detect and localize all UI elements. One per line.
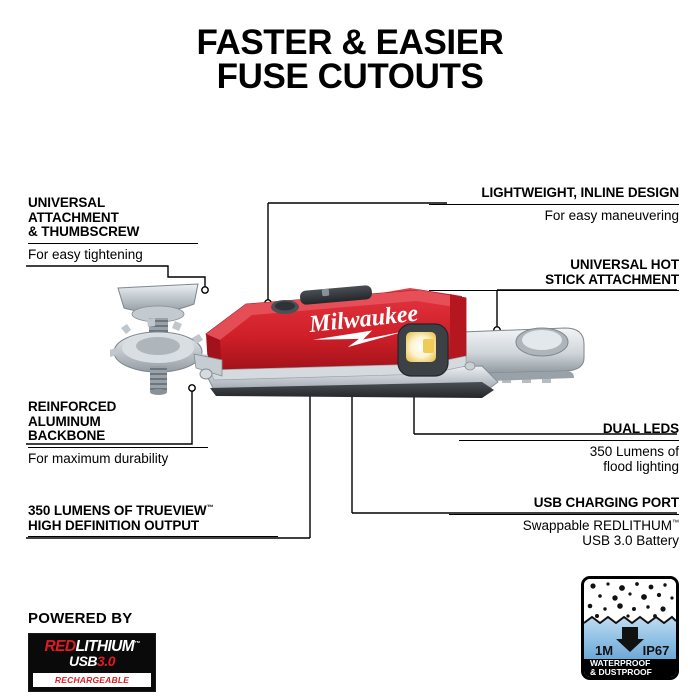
usb-version: 3.0 xyxy=(97,653,115,669)
powered-by-block: POWERED BY REDLITHIUM™ USB3.0 RECHARGEAB… xyxy=(28,610,156,692)
trademark-symbol: ™ xyxy=(672,519,679,526)
callout-divider xyxy=(449,514,679,515)
callout-reinforced-backbone: REINFORCED ALUMINUM BACKBONE For maximum… xyxy=(28,400,208,466)
redlithium-badge: REDLITHIUM™ USB3.0 RECHARGEABLE xyxy=(28,633,156,692)
side-bolt-detail xyxy=(465,362,475,370)
callout-universal-attachment: UNIVERSAL ATTACHMENT & THUMBSCREW For ea… xyxy=(28,196,198,262)
callout-title-line2: HIGH DEFINITION OUTPUT xyxy=(28,518,199,533)
callout-title: DUAL LEDS xyxy=(459,422,679,437)
callout-divider xyxy=(459,440,679,441)
trademark-symbol: ™ xyxy=(207,505,214,512)
infographic-page: FASTER & EASIER FUSE CUTOUTS xyxy=(0,0,700,700)
callout-hot-stick-attachment: UNIVERSAL HOT STICK ATTACHMENT xyxy=(429,258,679,291)
callout-divider xyxy=(28,447,208,448)
callout-subtitle-post: USB 3.0 Battery xyxy=(582,533,679,548)
product-illustration: Milwaukee xyxy=(110,270,590,420)
callout-dual-leds: DUAL LEDS 350 Lumens of flood lighting xyxy=(459,422,679,475)
callout-title: 350 LUMENS OF TRUEVIEW™HIGH DEFINITION O… xyxy=(28,504,278,533)
powered-by-label: POWERED BY xyxy=(28,610,156,627)
callout-title: REINFORCED ALUMINUM BACKBONE xyxy=(28,400,208,444)
universal-attachment-thumbscrew xyxy=(110,284,222,395)
waterproof-dustproof-badge: 1M IP67 WATERPROOF & DUSTPROOF xyxy=(581,576,679,680)
callout-subtitle: For maximum durability xyxy=(28,451,208,467)
callout-divider xyxy=(429,204,679,205)
ip-rating-label: IP67 xyxy=(643,643,670,658)
callout-subtitle: Swappable REDLITHUM™USB 3.0 Battery xyxy=(449,518,679,549)
trademark-symbol: ™ xyxy=(134,641,139,647)
headline-line-2: FUSE CUTOUTS xyxy=(0,60,700,94)
page-title: FASTER & EASIER FUSE CUTOUTS xyxy=(0,26,700,94)
thumbscrew-thread-lower xyxy=(150,366,167,395)
callout-subtitle: For easy maneuvering xyxy=(429,208,679,224)
callout-usb-charging-port: USB CHARGING PORT Swappable REDLITHUM™US… xyxy=(449,496,679,549)
callout-title: USB CHARGING PORT xyxy=(449,496,679,511)
callout-divider xyxy=(28,536,278,537)
dustproof-label: & DUSTPROOF xyxy=(590,667,652,677)
callout-trueview-output: 350 LUMENS OF TRUEVIEW™HIGH DEFINITION O… xyxy=(28,504,278,537)
dual-led-module xyxy=(398,324,448,376)
callout-title: LIGHTWEIGHT, INLINE DESIGN xyxy=(429,186,679,201)
headline-line-1: FASTER & EASIER xyxy=(0,26,700,60)
depth-label: 1M xyxy=(595,643,613,658)
callout-lightweight-inline: LIGHTWEIGHT, INLINE DESIGN For easy mane… xyxy=(429,186,679,223)
callout-title-text: 350 LUMENS OF TRUEVIEW xyxy=(28,503,207,518)
callout-subtitle: 350 Lumens of flood lighting xyxy=(459,444,679,475)
callout-divider xyxy=(429,290,679,291)
callout-title: UNIVERSAL HOT STICK ATTACHMENT xyxy=(429,258,679,287)
callout-subtitle: For easy tightening xyxy=(28,247,198,263)
rechargeable-strip: RECHARGEABLE xyxy=(33,673,151,687)
redlithium-usb-line: USB3.0 xyxy=(33,654,151,669)
callout-subtitle-pre: Swappable REDLITHUM xyxy=(523,518,672,533)
callout-title: UNIVERSAL ATTACHMENT & THUMBSCREW xyxy=(28,196,198,240)
callout-divider xyxy=(28,243,198,244)
dust-region xyxy=(584,579,676,619)
usb-label: USB xyxy=(69,653,97,669)
